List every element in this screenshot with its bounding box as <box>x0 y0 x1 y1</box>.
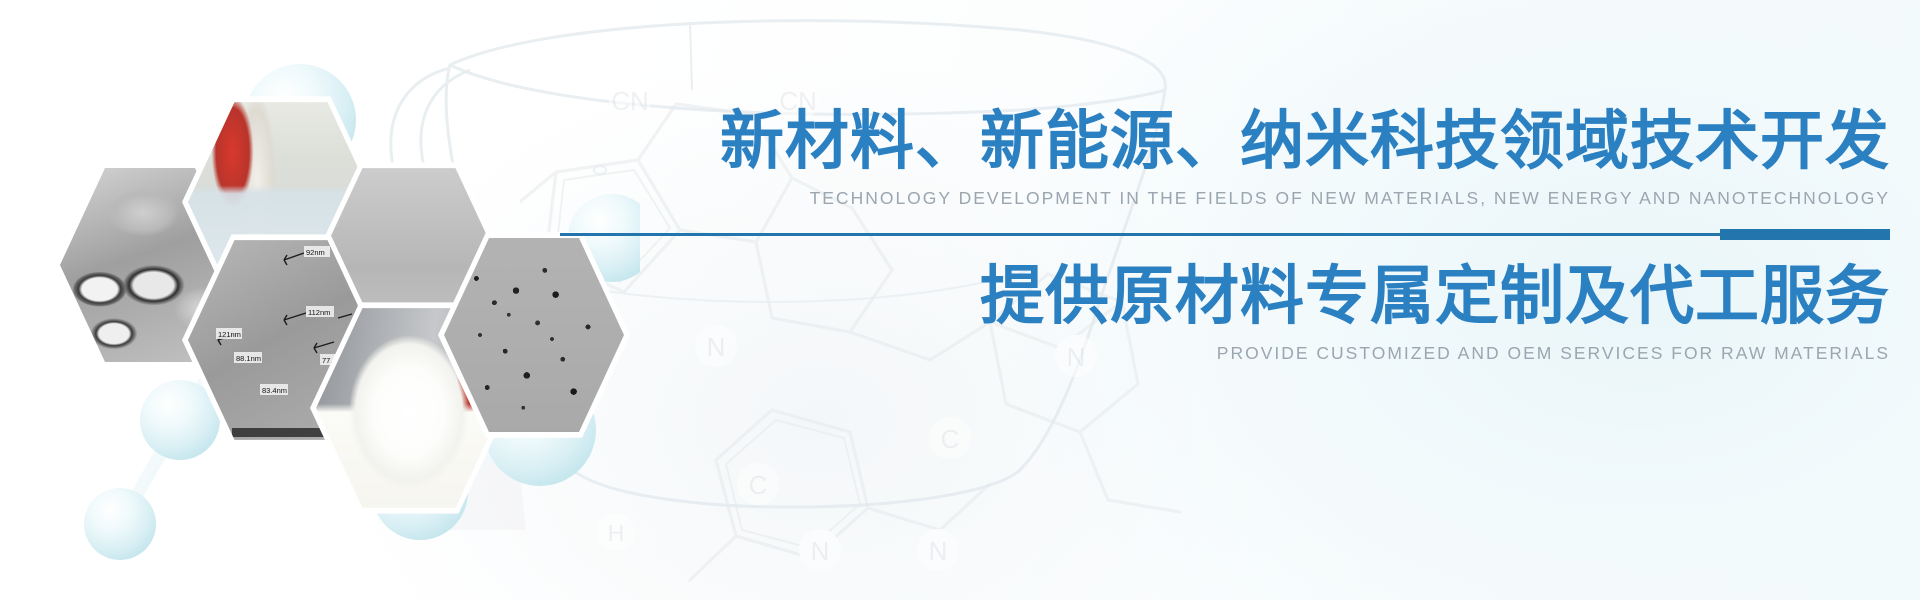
fiber-measure-label: 88.1nm <box>236 354 261 363</box>
hero-banner: CN CN N C N N C N H <box>0 0 1920 600</box>
chem-label-c-2: C <box>941 424 960 454</box>
chem-label-n-3: N <box>929 536 948 566</box>
banner-text-block: 新材料、新能源、纳米科技领域技术开发 TECHNOLOGY DEVELOPMEN… <box>560 108 1890 364</box>
divider-thin-line <box>560 233 1720 236</box>
fiber-measure-label: 121nm <box>218 330 241 339</box>
chem-label-c-1: C <box>749 470 768 500</box>
hexagon-image-cluster: 92nm 112nm 121nm 88.1nm 77.6nm 83.4nm <box>60 100 640 570</box>
divider-thick-cap <box>1720 229 1890 240</box>
divider <box>560 229 1890 241</box>
headline-secondary: 提供原材料专属定制及代工服务 <box>560 263 1890 330</box>
chem-label-n-2: N <box>811 536 830 566</box>
headline-primary: 新材料、新能源、纳米科技领域技术开发 <box>560 108 1890 175</box>
fiber-measure-label: 83.4nm <box>262 386 287 395</box>
fiber-measure-label: 92nm <box>306 248 325 257</box>
fiber-measure-label: 112nm <box>308 308 330 317</box>
subtitle-secondary: PROVIDE CUSTOMIZED AND OEM SERVICES FOR … <box>560 343 1890 364</box>
subtitle-primary: TECHNOLOGY DEVELOPMENT IN THE FIELDS OF … <box>560 188 1890 209</box>
